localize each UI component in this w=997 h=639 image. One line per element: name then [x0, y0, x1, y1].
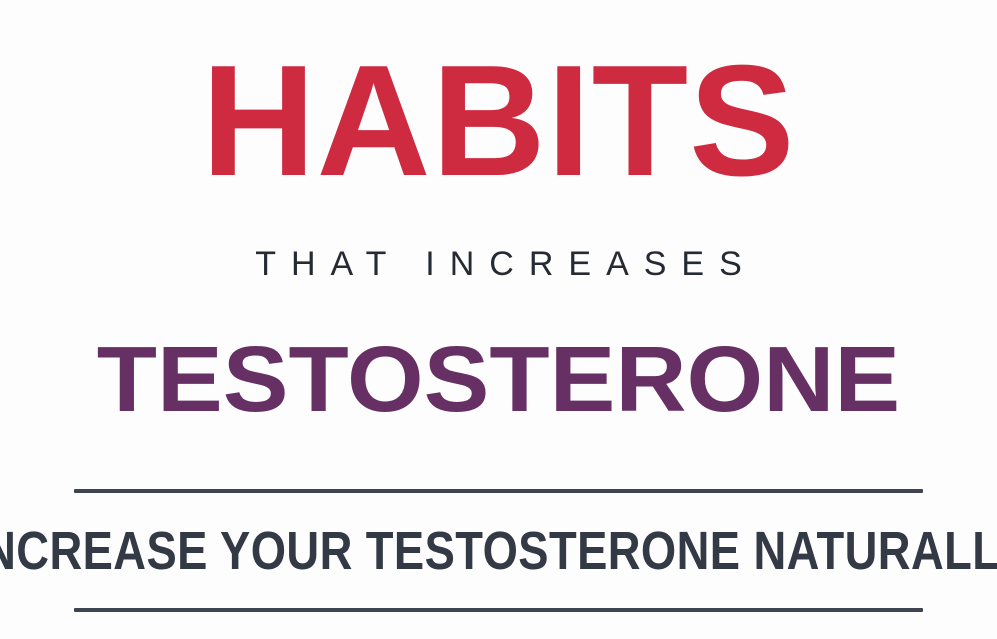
page-title-habits: HABITS [0, 46, 997, 196]
poster-canvas: HABITS THAT INCREASES TESTOSTERONE INCRE… [0, 0, 997, 639]
divider-rule-top [74, 489, 923, 493]
subtitle-that-increases: THAT INCREASES [0, 240, 997, 288]
tagline-text: INCREASE YOUR TESTOSTERONE NATURALLY [80, 518, 917, 584]
divider-rule-bottom [74, 608, 923, 612]
keyword-testosterone: TESTOSTERONE [0, 332, 997, 427]
